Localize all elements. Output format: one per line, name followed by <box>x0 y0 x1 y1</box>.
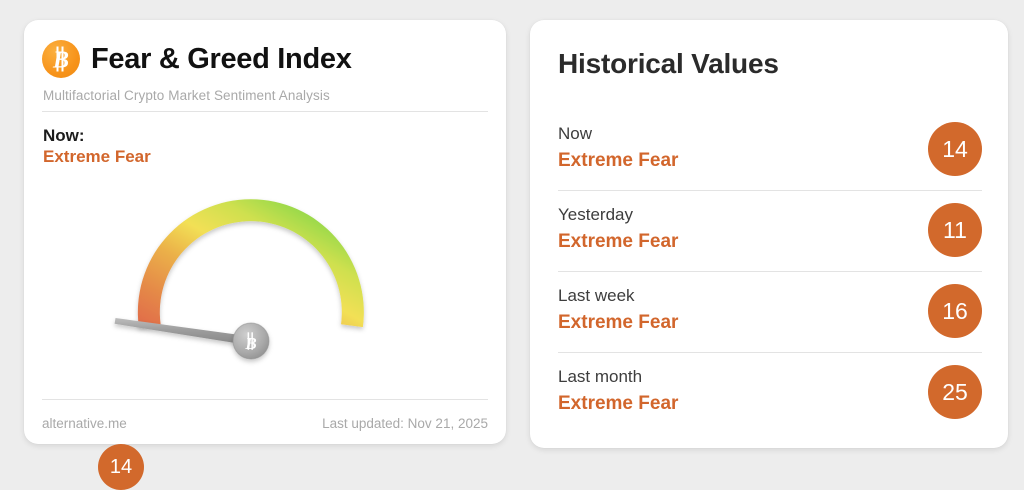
fear-greed-gauge-card: B Fear & Greed Index Multifactorial Cryp… <box>24 20 506 444</box>
row-period-label: Yesterday <box>558 205 633 225</box>
source-link[interactable]: alternative.me <box>42 416 127 431</box>
row-value-badge: 11 <box>928 203 982 257</box>
list-item[interactable]: Yesterday Extreme Fear 11 <box>558 191 982 272</box>
list-item[interactable]: Last week Extreme Fear 16 <box>558 272 982 353</box>
historical-values-card: Historical Values Now Extreme Fear 14 Ye… <box>530 20 1008 448</box>
list-item[interactable]: Last month Extreme Fear 25 <box>558 353 982 433</box>
now-sentiment: Extreme Fear <box>43 146 490 168</box>
row-period-label: Last week <box>558 286 635 306</box>
list-item[interactable]: Now Extreme Fear 14 <box>558 110 982 191</box>
footer-divider <box>42 399 488 400</box>
row-value-badge: 25 <box>928 365 982 419</box>
page-root: B Fear & Greed Index Multifactorial Cryp… <box>0 0 1024 465</box>
gauge-chart: B 14 <box>40 170 490 410</box>
gauge-needle <box>115 318 251 346</box>
gauge-hub: B <box>233 323 269 359</box>
row-sentiment-label: Extreme Fear <box>558 312 678 334</box>
page-subtitle: Multifactorial Crypto Market Sentiment A… <box>40 88 490 103</box>
brand-header: B Fear & Greed Index <box>40 20 490 78</box>
bitcoin-icon: B <box>42 40 80 78</box>
row-period-label: Now <box>558 124 592 144</box>
row-period-label: Last month <box>558 367 642 387</box>
gauge-card-content: B Fear & Greed Index Multifactorial Cryp… <box>40 20 490 444</box>
page-title: Fear & Greed Index <box>91 45 352 74</box>
last-updated-text: Last updated: Nov 21, 2025 <box>322 416 488 431</box>
row-value-badge: 14 <box>928 122 982 176</box>
row-sentiment-label: Extreme Fear <box>558 150 678 172</box>
row-sentiment-label: Extreme Fear <box>558 231 678 253</box>
svg-text:B: B <box>244 334 256 353</box>
row-value-badge: 16 <box>928 284 982 338</box>
gauge-value-badge: 14 <box>98 444 144 490</box>
gauge-arc <box>138 199 364 327</box>
now-label: Now: <box>43 125 490 146</box>
row-sentiment-label: Extreme Fear <box>558 393 678 415</box>
historical-values-title: Historical Values <box>558 48 779 80</box>
svg-text:B: B <box>52 48 69 74</box>
gauge-card-footer: alternative.me Last updated: Nov 21, 202… <box>42 416 488 431</box>
current-value-block: Now: Extreme Fear <box>40 125 490 168</box>
historical-values-list: Now Extreme Fear 14 Yesterday Extreme Fe… <box>558 110 982 433</box>
header-divider <box>42 111 488 112</box>
